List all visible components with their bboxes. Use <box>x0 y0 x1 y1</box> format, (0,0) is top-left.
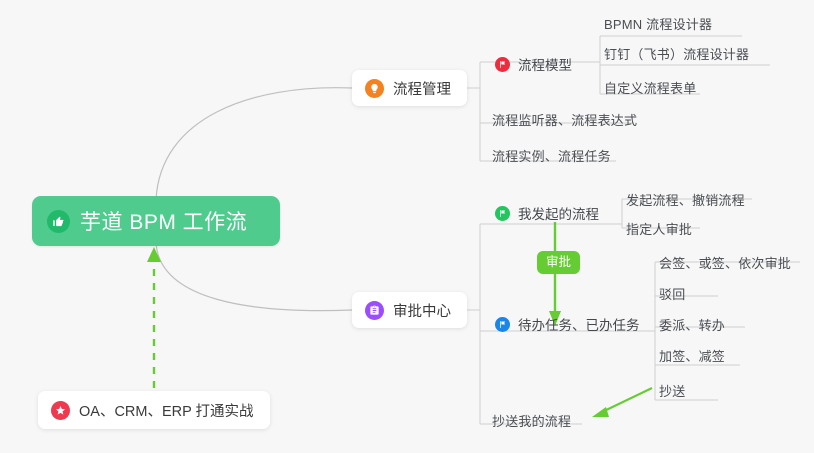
branch-label: 审批中心 <box>393 300 451 321</box>
root-label: 芋道 BPM 工作流 <box>80 206 247 236</box>
leaf-countersign[interactable]: 会签、或签、依次审批 <box>659 253 791 272</box>
leaf-cc-to-me[interactable]: 抄送我的流程 <box>492 411 571 430</box>
leaf-start-cancel-process[interactable]: 发起流程、撤销流程 <box>626 190 745 209</box>
subnode-my-initiated[interactable]: 我发起的流程 <box>495 203 599 223</box>
leaf-add-remove-sign[interactable]: 加签、减签 <box>659 346 725 365</box>
flag-icon <box>495 317 510 332</box>
leaf-delegate-transfer[interactable]: 委派、转办 <box>659 315 725 334</box>
footnote-label: OA、CRM、ERP 打通实战 <box>79 400 254 421</box>
leaf-dingtalk-feishu-designer[interactable]: 钉钉（飞书）流程设计器 <box>604 44 749 63</box>
subnode-label: 流程模型 <box>518 54 572 74</box>
leaf-assigned-approver[interactable]: 指定人审批 <box>626 219 692 238</box>
leaf-process-listener-expression[interactable]: 流程监听器、流程表达式 <box>492 110 637 129</box>
leaf-custom-form[interactable]: 自定义流程表单 <box>604 78 696 97</box>
footnote-dashed-arrow <box>147 247 161 388</box>
subnode-todo-done-tasks[interactable]: 待办任务、已办任务 <box>495 314 640 334</box>
star-icon <box>51 401 70 420</box>
footnote-node[interactable]: OA、CRM、ERP 打通实战 <box>38 391 270 429</box>
clipboard-icon <box>365 301 384 320</box>
subnode-label: 待办任务、已办任务 <box>518 314 640 334</box>
leaf-process-instance-task[interactable]: 流程实例、流程任务 <box>492 146 611 165</box>
thumbs-up-icon <box>47 210 70 233</box>
branch-label: 流程管理 <box>393 78 451 99</box>
flag-icon <box>495 206 510 221</box>
subnode-label: 我发起的流程 <box>518 203 599 223</box>
flag-icon <box>495 57 510 72</box>
leaf-cc[interactable]: 抄送 <box>659 381 685 400</box>
leaf-bpmn-designer[interactable]: BPMN 流程设计器 <box>604 14 712 33</box>
mindmap-canvas: 芋道 BPM 工作流 流程管理 流程模型 BPMN 流程设计器 钉钉（飞书）流程… <box>0 0 814 453</box>
lightbulb-icon <box>365 79 384 98</box>
branch-node-process-management[interactable]: 流程管理 <box>352 70 467 106</box>
leaf-reject[interactable]: 驳回 <box>659 284 685 303</box>
subnode-process-model[interactable]: 流程模型 <box>495 54 572 74</box>
cc-flow-arrow <box>592 388 652 417</box>
branch-node-approval-center[interactable]: 审批中心 <box>352 292 467 328</box>
approval-flow-arrow <box>549 222 561 326</box>
root-node[interactable]: 芋道 BPM 工作流 <box>32 196 280 246</box>
approval-badge[interactable]: 审批 <box>537 251 580 274</box>
